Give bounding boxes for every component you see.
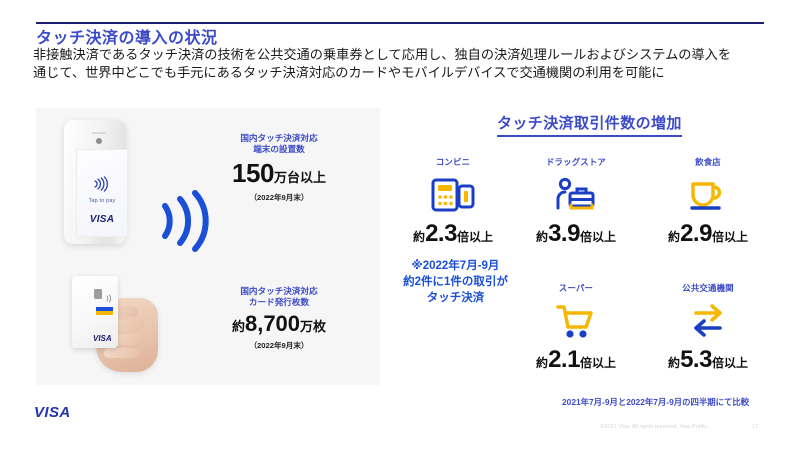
stat-caption-line-2: カード発行枚数: [184, 297, 374, 308]
metric-drugstore: ドラッグストア 約3.9倍以上: [516, 156, 636, 248]
metric-number: 2.3: [425, 220, 457, 247]
stat-number: 150: [232, 158, 274, 188]
metric-suffix: 倍以上: [580, 356, 616, 370]
metric-prefix: 約: [536, 230, 548, 244]
card-chip-icon: [94, 289, 102, 299]
stat-date: （2022年9月末）: [184, 192, 374, 203]
metric-value: 約2.9倍以上: [648, 220, 768, 248]
stat-date: （2022年9月末）: [184, 340, 374, 351]
metric-number: 2.1: [548, 346, 580, 373]
stat-terminal-installations: 国内タッチ決済対応 端末の設置数 150万台以上 （2022年9月末）: [184, 133, 374, 203]
left-photo-panel: Tap to pay VISA: [36, 108, 380, 385]
visa-card-body: VISA: [72, 276, 118, 348]
metric-prefix: 約: [536, 356, 548, 370]
metric-number: 2.9: [680, 220, 712, 247]
stat-caption: 国内タッチ決済対応 端末の設置数: [184, 133, 374, 155]
stat-unit: 万台以上: [274, 170, 326, 185]
metric-suffix: 倍以上: [712, 356, 748, 370]
metric-restaurant: 飲食店 約2.9倍以上: [648, 156, 768, 248]
stat-caption: 国内タッチ決済対応 カード発行枚数: [184, 286, 374, 308]
center-note-line-1: ※2022年7月-9月: [388, 258, 523, 274]
metric-public-transit: 公共交通機関 約5.3倍以上: [648, 282, 768, 374]
stat-caption-line-1: 国内タッチ決済対応: [184, 133, 374, 144]
metric-convenience-store: コンビニ 約2.3倍以上: [393, 156, 513, 248]
stat-value: 150万台以上: [184, 158, 374, 189]
metric-label: コンビニ: [393, 156, 513, 168]
subtitle-line-2: 通じて、世界中どこでも手元にあるタッチ決済対応のカードやモバイルデバイスで交通機…: [33, 64, 768, 82]
card-stripe-blue: [96, 307, 113, 311]
card-visa-logo: VISA: [93, 334, 112, 343]
metric-number: 5.3: [680, 346, 712, 373]
center-note-line-2: 約2件に1件の取引が: [388, 274, 523, 290]
metric-value: 約3.9倍以上: [516, 220, 636, 248]
metric-prefix: 約: [668, 230, 680, 244]
metric-label: 飲食店: [648, 156, 768, 168]
stat-number: 8,700: [245, 311, 300, 336]
shopping-cart-icon: [516, 298, 636, 344]
metric-value: 約5.3倍以上: [648, 346, 768, 374]
metric-label: 公共交通機関: [648, 282, 768, 294]
metric-prefix: 約: [668, 356, 680, 370]
metric-value: 約2.1倍以上: [516, 346, 636, 374]
metric-suffix: 倍以上: [712, 230, 748, 244]
stat-unit: 万枚: [300, 319, 326, 334]
comparison-period-note: 2021年7月-9月と2022年7月-9月の四半期にて比較: [562, 396, 749, 408]
metric-label: スーパー: [516, 282, 636, 294]
subtitle-line-1: 非接触決済であるタッチ決済の技術を公共交通の乗車券として応用し、独自の決済処理ル…: [33, 46, 768, 64]
center-highlight-note: ※2022年7月-9月 約2件に1件の取引が タッチ決済: [388, 258, 523, 306]
stat-caption-line-1: 国内タッチ決済対応: [184, 286, 374, 297]
metric-prefix: 約: [413, 230, 425, 244]
page-title: タッチ決済の導入の状況: [36, 24, 218, 48]
page-number: 17: [752, 424, 758, 430]
payment-terminal-photo: Tap to pay VISA: [58, 116, 134, 248]
metric-supermarket: スーパー 約2.1倍以上: [516, 282, 636, 374]
visa-logo: VISA: [34, 404, 71, 421]
right-panel-title: タッチ決済取引件数の増加: [497, 112, 682, 137]
terminal-camera-icon: [96, 138, 102, 144]
stat-caption-line-2: 端末の設置数: [184, 144, 374, 155]
transit-arrows-icon: [648, 298, 768, 344]
stat-cards-issued: 国内タッチ決済対応 カード発行枚数 約8,700万枚 （2022年9月末）: [184, 286, 374, 351]
page-subtitle: 非接触決済であるタッチ決済の技術を公共交通の乗車券として応用し、独自の決済処理ル…: [33, 46, 768, 82]
contactless-card-photo: VISA: [54, 268, 172, 374]
terminal-device-body: Tap to pay VISA: [64, 120, 126, 244]
coffee-cup-icon: [648, 172, 768, 218]
terminal-screen: Tap to pay VISA: [76, 149, 128, 237]
metric-value: 約2.3倍以上: [393, 220, 513, 248]
metric-suffix: 倍以上: [457, 230, 493, 244]
metric-label: ドラッグストア: [516, 156, 636, 168]
tap-to-pay-label: Tap to pay: [77, 198, 127, 204]
metric-number: 3.9: [548, 220, 580, 247]
pharmacist-icon: [516, 172, 636, 218]
finger: [104, 348, 140, 358]
stat-value: 約8,700万枚: [184, 311, 374, 337]
card-stripe-gold: [96, 311, 113, 315]
card-contactless-icon: [105, 290, 113, 308]
pos-terminal-phone-icon: [393, 172, 513, 218]
stat-prefix: 約: [232, 319, 245, 334]
center-note-line-3: タッチ決済: [388, 290, 523, 306]
terminal-visa-logo: VISA: [77, 214, 127, 225]
copyright-text: ©2021 Visa. All rights reserved. Visa Pu…: [600, 424, 707, 430]
metric-suffix: 倍以上: [580, 230, 616, 244]
contactless-icon: [92, 176, 112, 197]
terminal-speaker: [92, 132, 106, 134]
